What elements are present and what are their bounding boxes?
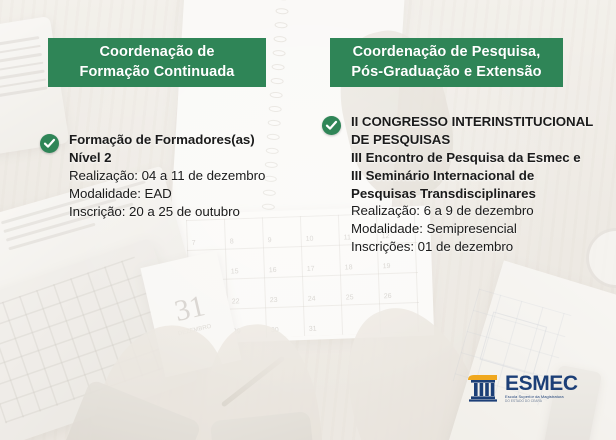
esmec-logo: ESMEC Escola Superior da Magistratura DO… [466, 371, 588, 405]
event-right-line-4: Pesquisas Transdisciplinares [351, 185, 594, 203]
check-circle-icon [40, 134, 59, 153]
event-block-right: II CONGRESSO INTERINSTITUCIONAL DE PESQU… [322, 113, 594, 256]
banner-left-line1: Coordenação de [99, 44, 214, 60]
event-right-line-7: Inscrições: 01 de dezembro [351, 238, 594, 256]
event-right-line-3: III Seminário Internacional de [351, 167, 594, 185]
esmec-logo-name: ESMEC [505, 373, 578, 394]
poster-canvas: 7891011121415161718192122232425262829303… [0, 0, 616, 440]
event-block-left: Formação de Formadores(as) Nível 2 Reali… [40, 131, 302, 220]
event-left-line-1: Nível 2 [69, 149, 302, 167]
banner-left-line2: Formação Continuada [80, 64, 235, 80]
event-left-text: Formação de Formadores(as) Nível 2 Reali… [69, 131, 302, 220]
banner-right-line2: Pós-Graduação e Extensão [351, 64, 541, 80]
event-right-line-0: II CONGRESSO INTERINSTITUCIONAL [351, 113, 594, 131]
banner-right-line1: Coordenação de Pesquisa, [353, 44, 541, 60]
event-right-line-2: III Encontro de Pesquisa da Esmec e [351, 149, 594, 167]
check-circle-icon [322, 116, 341, 135]
event-left-line-2: Realização: 04 a 11 de dezembro [69, 167, 302, 185]
greek-column-icon [466, 373, 500, 403]
event-left-line-0: Formação de Formadores(as) [69, 131, 302, 149]
event-right-line-6: Modalidade: Semipresencial [351, 220, 594, 238]
event-left-line-4: Inscrição: 20 a 25 de outubro [69, 203, 302, 221]
esmec-logo-wordmark: ESMEC Escola Superior da Magistratura DO… [505, 373, 578, 404]
esmec-logo-subtitle-2: DO ESTADO DO CEARÁ [505, 400, 578, 403]
event-right-line-1: DE PESQUISAS [351, 131, 594, 149]
event-right-text: II CONGRESSO INTERINSTITUCIONAL DE PESQU… [351, 113, 594, 256]
banner-formacao-continuada: Coordenação de Formação Continuada [48, 38, 266, 87]
banner-pesquisa-pos-extensao: Coordenação de Pesquisa, Pós-Graduação e… [330, 38, 563, 87]
event-right-line-5: Realização: 6 a 9 de dezembro [351, 202, 594, 220]
event-left-line-3: Modalidade: EAD [69, 185, 302, 203]
poster-content: Coordenação de Formação Continuada Coord… [0, 0, 616, 440]
